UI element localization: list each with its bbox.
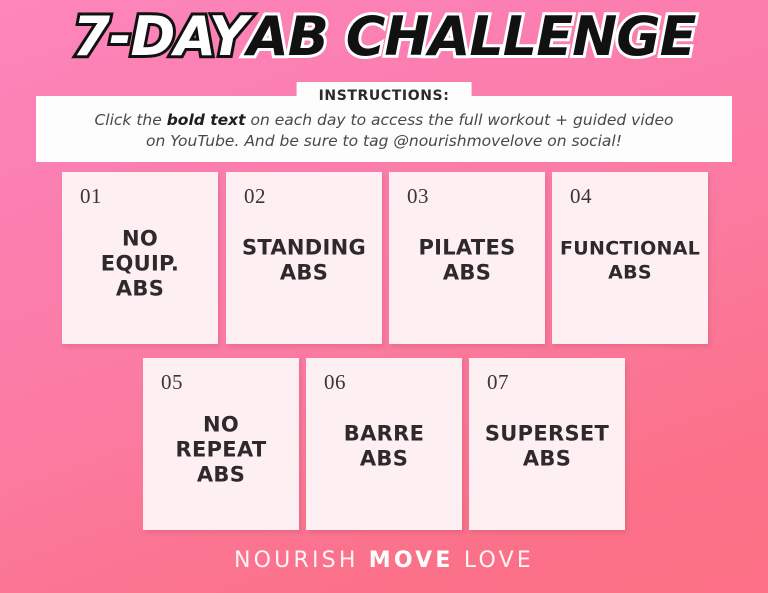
day-card-title-line: SUPERSET bbox=[477, 422, 617, 447]
day-card-07[interactable]: 07 SUPERSET ABS bbox=[469, 358, 625, 530]
brand-word-nourish: NOURISH bbox=[234, 548, 359, 573]
day-card-title[interactable]: PILATES ABS bbox=[397, 236, 537, 286]
day-card-title[interactable]: NO EQUIP. ABS bbox=[70, 227, 210, 302]
brand-space-1 bbox=[359, 548, 369, 573]
day-card-title[interactable]: FUNCTIONAL ABS bbox=[560, 236, 700, 284]
day-card-title-line: FUNCTIONAL bbox=[560, 236, 700, 260]
day-card-title[interactable]: BARRE ABS bbox=[314, 422, 454, 472]
day-card-06[interactable]: 06 BARRE ABS bbox=[306, 358, 462, 530]
day-card-title-line: ABS bbox=[397, 261, 537, 286]
day-card-04[interactable]: 04 FUNCTIONAL ABS bbox=[552, 172, 708, 344]
day-card-number: 04 bbox=[570, 184, 592, 209]
day-card-title-line: ABS bbox=[151, 463, 291, 488]
day-card-title-line: NO bbox=[70, 227, 210, 252]
poster-canvas: 7-DAY AB CHALLENGE INSTRUCTIONS: Click t… bbox=[0, 0, 768, 593]
day-card-03[interactable]: 03 PILATES ABS bbox=[389, 172, 545, 344]
day-card-title[interactable]: NO REPEAT ABS bbox=[151, 413, 291, 488]
day-card-title-line: STANDING bbox=[234, 236, 374, 261]
brand-space-2 bbox=[454, 548, 464, 573]
day-card-title-line: NO bbox=[151, 413, 291, 438]
day-card-number: 01 bbox=[80, 184, 102, 209]
day-card-05[interactable]: 05 NO REPEAT ABS bbox=[143, 358, 299, 530]
title-part-7day: 7-DAY bbox=[73, 10, 248, 64]
day-card-title-line: ABS bbox=[314, 447, 454, 472]
instructions-line-1: Click the bold text on each day to acces… bbox=[36, 110, 732, 131]
day-card-number: 05 bbox=[161, 370, 183, 395]
day-card-title[interactable]: STANDING ABS bbox=[234, 236, 374, 286]
day-card-number: 03 bbox=[407, 184, 429, 209]
instructions-label: INSTRUCTIONS: bbox=[319, 88, 450, 104]
brand-word-move: MOVE bbox=[369, 548, 454, 573]
day-card-title-line: ABS bbox=[560, 260, 700, 284]
day-card-01[interactable]: 01 NO EQUIP. ABS bbox=[62, 172, 218, 344]
instructions-body: Click the bold text on each day to acces… bbox=[36, 110, 732, 152]
day-card-title-line: REPEAT bbox=[151, 438, 291, 463]
brand-footer: NOURISH MOVE LOVE bbox=[0, 548, 768, 573]
page-title: 7-DAY AB CHALLENGE bbox=[0, 10, 768, 64]
brand-word-love: LOVE bbox=[464, 548, 534, 573]
day-card-number: 07 bbox=[487, 370, 509, 395]
day-card-title-line: EQUIP. bbox=[70, 252, 210, 277]
day-card-title-line: BARRE bbox=[314, 422, 454, 447]
instructions-line1-bold: bold text bbox=[167, 111, 246, 129]
instructions-label-tab: INSTRUCTIONS: bbox=[297, 82, 472, 109]
instructions-line1-after: on each day to access the full workout +… bbox=[246, 111, 674, 129]
day-card-title[interactable]: SUPERSET ABS bbox=[477, 422, 617, 472]
instructions-line1-before: Click the bbox=[94, 111, 166, 129]
day-card-title-line: ABS bbox=[234, 261, 374, 286]
day-card-02[interactable]: 02 STANDING ABS bbox=[226, 172, 382, 344]
title-part-ab-challenge: AB CHALLENGE bbox=[247, 10, 695, 64]
day-card-title-line: ABS bbox=[477, 447, 617, 472]
day-card-number: 06 bbox=[324, 370, 346, 395]
day-card-title-line: PILATES bbox=[397, 236, 537, 261]
instructions-line-2: on YouTube. And be sure to tag @nourishm… bbox=[36, 131, 732, 152]
day-card-number: 02 bbox=[244, 184, 266, 209]
day-card-title-line: ABS bbox=[70, 277, 210, 302]
